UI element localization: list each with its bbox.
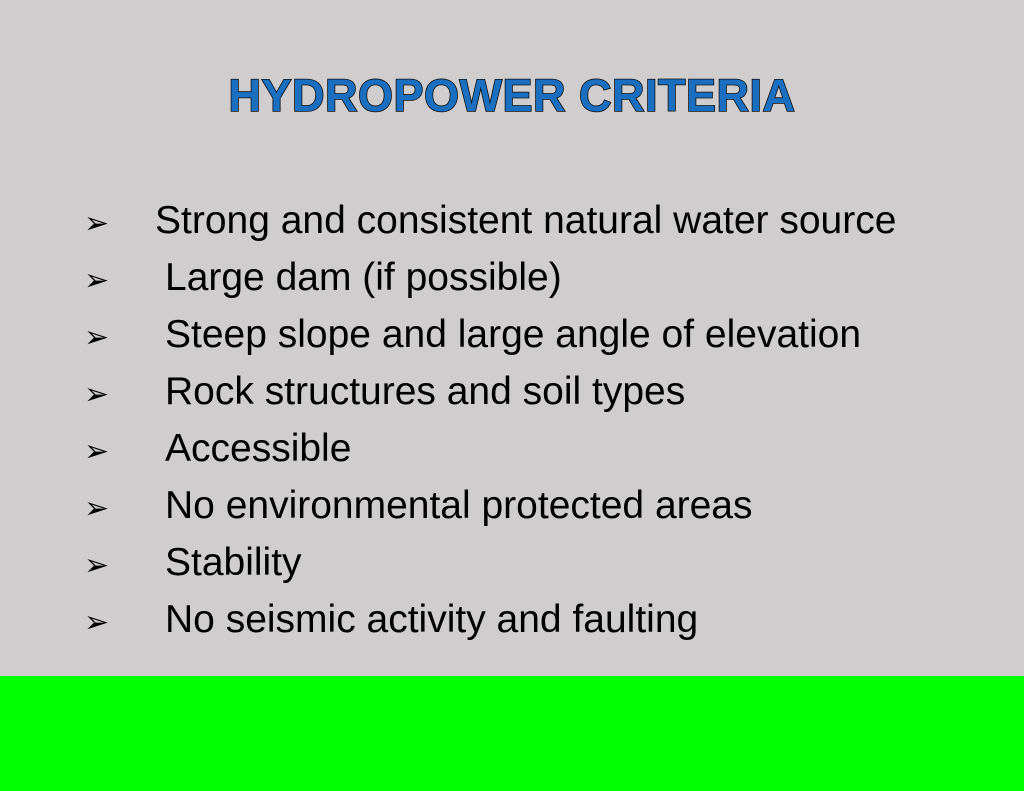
title-area: HYDROPOWER CRITERIA: [0, 72, 1024, 119]
list-item-label: Rock structures and soil types: [124, 363, 685, 420]
arrowhead-bullet-icon: ➢: [84, 309, 124, 366]
list-item: ➢ Strong and consistent natural water so…: [84, 192, 984, 249]
list-item-label: Large dam (if possible): [124, 249, 562, 306]
list-item: ➢ Large dam (if possible): [84, 249, 984, 306]
arrowhead-bullet-icon: ➢: [84, 594, 124, 651]
slide-canvas: HYDROPOWER CRITERIA ➢ Strong and consist…: [0, 0, 1024, 791]
list-item-label: Stability: [124, 534, 302, 591]
list-item: ➢ Steep slope and large angle of elevati…: [84, 306, 984, 363]
list-item-label: No seismic activity and faulting: [124, 591, 698, 648]
list-item: ➢ No environmental protected areas: [84, 477, 984, 534]
arrowhead-bullet-icon: ➢: [84, 423, 124, 480]
arrowhead-bullet-icon: ➢: [84, 366, 124, 423]
list-item-label: Steep slope and large angle of elevation: [124, 306, 861, 363]
list-item: ➢ Accessible: [84, 420, 984, 477]
list-item: ➢ Rock structures and soil types: [84, 363, 984, 420]
list-item: ➢ No seismic activity and faulting: [84, 591, 984, 648]
bottom-accent-band: [0, 676, 1024, 791]
criteria-list: ➢ Strong and consistent natural water so…: [84, 192, 984, 648]
list-item-label: Strong and consistent natural water sour…: [124, 192, 896, 249]
list-item-label: Accessible: [124, 420, 351, 477]
list-item-label: No environmental protected areas: [124, 477, 753, 534]
page-title: HYDROPOWER CRITERIA: [228, 72, 795, 119]
list-item: ➢ Stability: [84, 534, 984, 591]
arrowhead-bullet-icon: ➢: [84, 252, 124, 309]
arrowhead-bullet-icon: ➢: [84, 537, 124, 594]
arrowhead-bullet-icon: ➢: [84, 480, 124, 537]
arrowhead-bullet-icon: ➢: [84, 195, 124, 252]
